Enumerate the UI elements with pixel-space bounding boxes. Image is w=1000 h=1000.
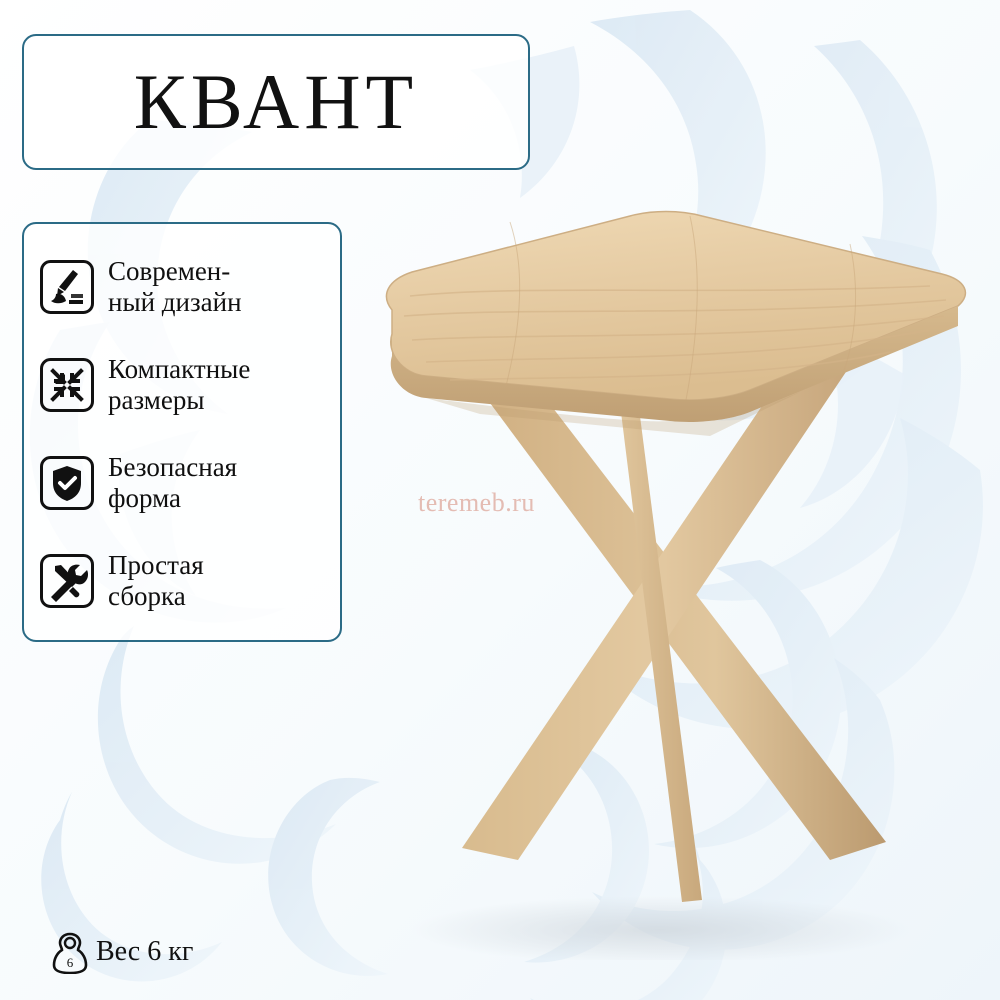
feature-item-safety: Безопасная форма	[40, 434, 328, 532]
feature-label-assembly: Простая сборка	[108, 550, 204, 613]
feature-item-assembly: Простая сборка	[40, 532, 328, 630]
weight-badge: 6 Вес 6 кг	[52, 930, 193, 974]
feature-label-compact: Компактные размеры	[108, 354, 250, 417]
weight-label: Вес 6 кг	[96, 936, 193, 968]
features-list: Современ- ный дизайн	[22, 222, 342, 642]
product-image	[330, 200, 990, 960]
kettlebell-icon: 6	[52, 930, 88, 974]
feature-label-design: Современ- ный дизайн	[108, 256, 242, 319]
weight-icon-number: 6	[67, 955, 74, 970]
tools-wrench-screwdriver-icon	[40, 554, 94, 608]
shield-check-icon	[40, 456, 94, 510]
design-brush-pencil-icon	[40, 260, 94, 314]
table-top	[364, 212, 967, 422]
product-title-box: КВАНТ	[22, 34, 530, 170]
product-infographic-page: КВАНТ Современ- ный дизайн	[0, 0, 1000, 1000]
site-watermark: teremeb.ru	[418, 488, 535, 518]
page-title: КВАНТ	[134, 63, 418, 141]
feature-label-safety: Безопасная форма	[108, 452, 237, 515]
feature-item-design: Современ- ный дизайн	[40, 238, 328, 336]
compact-arrows-icon	[40, 358, 94, 412]
feature-item-compact: Компактные размеры	[40, 336, 328, 434]
